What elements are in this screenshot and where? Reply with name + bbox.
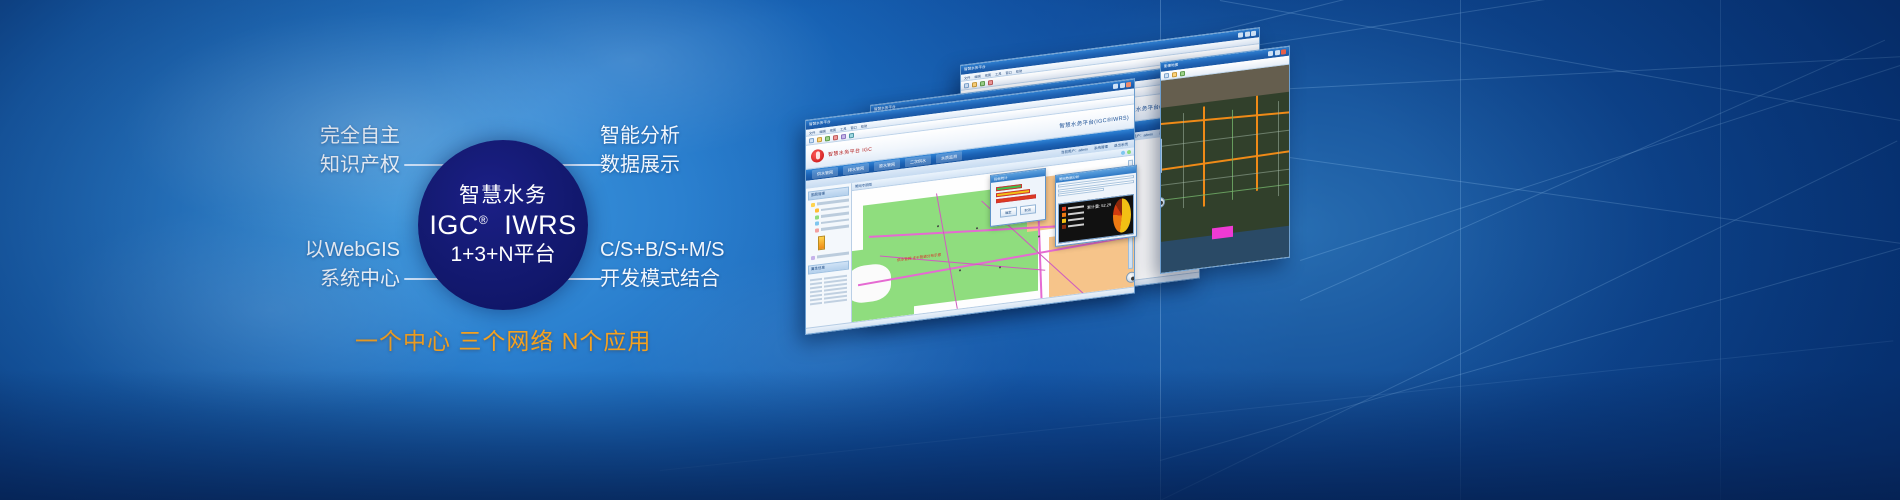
hero-banner: 完全自主 知识产权 以WebGIS 系统中心 智能分析 数据展示 C/S+B/S… [0,0,1900,500]
background-bottom-fade [0,370,1900,500]
